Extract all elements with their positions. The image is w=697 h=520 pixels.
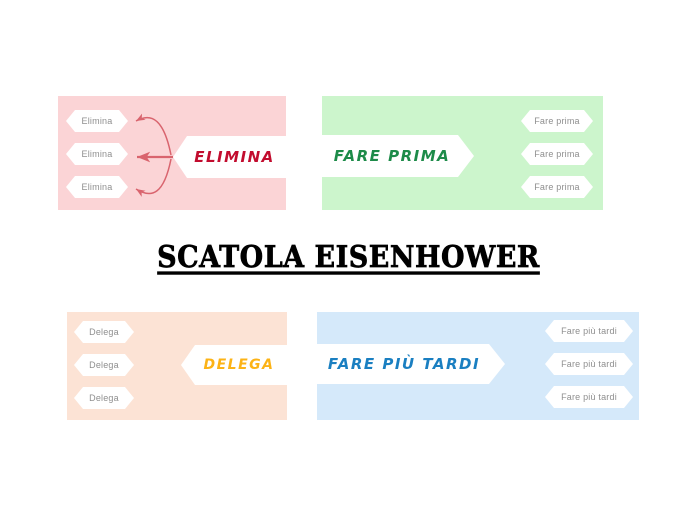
leaf-label-elimina-2: Elimina: [82, 149, 113, 159]
root-label-fare-piu-tardi: FARE PIÙ TARDI: [317, 355, 505, 373]
leaf-label-fare-prima-3: Fare prima: [534, 182, 580, 192]
leaf-chip-fare-piu-tardi-3[interactable]: Fare più tardi: [545, 386, 633, 408]
leaf-label-delega-3: Delega: [89, 393, 119, 403]
leaf-chip-fare-prima-2[interactable]: Fare prima: [521, 143, 593, 165]
leaf-chip-fare-piu-tardi-1[interactable]: Fare più tardi: [545, 320, 633, 342]
leaf-label-delega-1: Delega: [89, 327, 119, 337]
root-label-fare-prima: FARE PRIMA: [322, 147, 474, 165]
leaf-chip-fare-prima-3[interactable]: Fare prima: [521, 176, 593, 198]
root-label-elimina: ELIMINA: [173, 148, 286, 166]
leaf-chip-fare-piu-tardi-2[interactable]: Fare più tardi: [545, 353, 633, 375]
leaf-chip-elimina-3[interactable]: Elimina: [66, 176, 128, 198]
leaf-chip-delega-1[interactable]: Delega: [74, 321, 134, 343]
leaf-label-fare-piu-tardi-2: Fare più tardi: [561, 359, 617, 369]
eisenhower-matrix-canvas: ELIMINA Elimina Elimina Elimina FARE PRI…: [0, 0, 697, 520]
root-chip-fare-prima[interactable]: FARE PRIMA: [322, 135, 474, 177]
leaf-label-delega-2: Delega: [89, 360, 119, 370]
root-chip-fare-piu-tardi[interactable]: FARE PIÙ TARDI: [317, 344, 505, 384]
page-title: SCATOLA EISENHOWER: [0, 240, 697, 275]
leaf-label-elimina-3: Elimina: [82, 182, 113, 192]
leaf-chip-delega-3[interactable]: Delega: [74, 387, 134, 409]
leaf-chip-elimina-2[interactable]: Elimina: [66, 143, 128, 165]
leaf-label-fare-piu-tardi-3: Fare più tardi: [561, 392, 617, 402]
leaf-chip-fare-prima-1[interactable]: Fare prima: [521, 110, 593, 132]
leaf-label-fare-piu-tardi-1: Fare più tardi: [561, 326, 617, 336]
leaf-label-fare-prima-1: Fare prima: [534, 116, 580, 126]
leaf-chip-delega-2[interactable]: Delega: [74, 354, 134, 376]
leaf-chip-elimina-1[interactable]: Elimina: [66, 110, 128, 132]
root-chip-delega[interactable]: DELEGA: [181, 345, 287, 385]
root-label-delega: DELEGA: [181, 357, 287, 373]
leaf-label-fare-prima-2: Fare prima: [534, 149, 580, 159]
leaf-label-elimina-1: Elimina: [82, 116, 113, 126]
root-chip-elimina[interactable]: ELIMINA: [173, 136, 286, 178]
